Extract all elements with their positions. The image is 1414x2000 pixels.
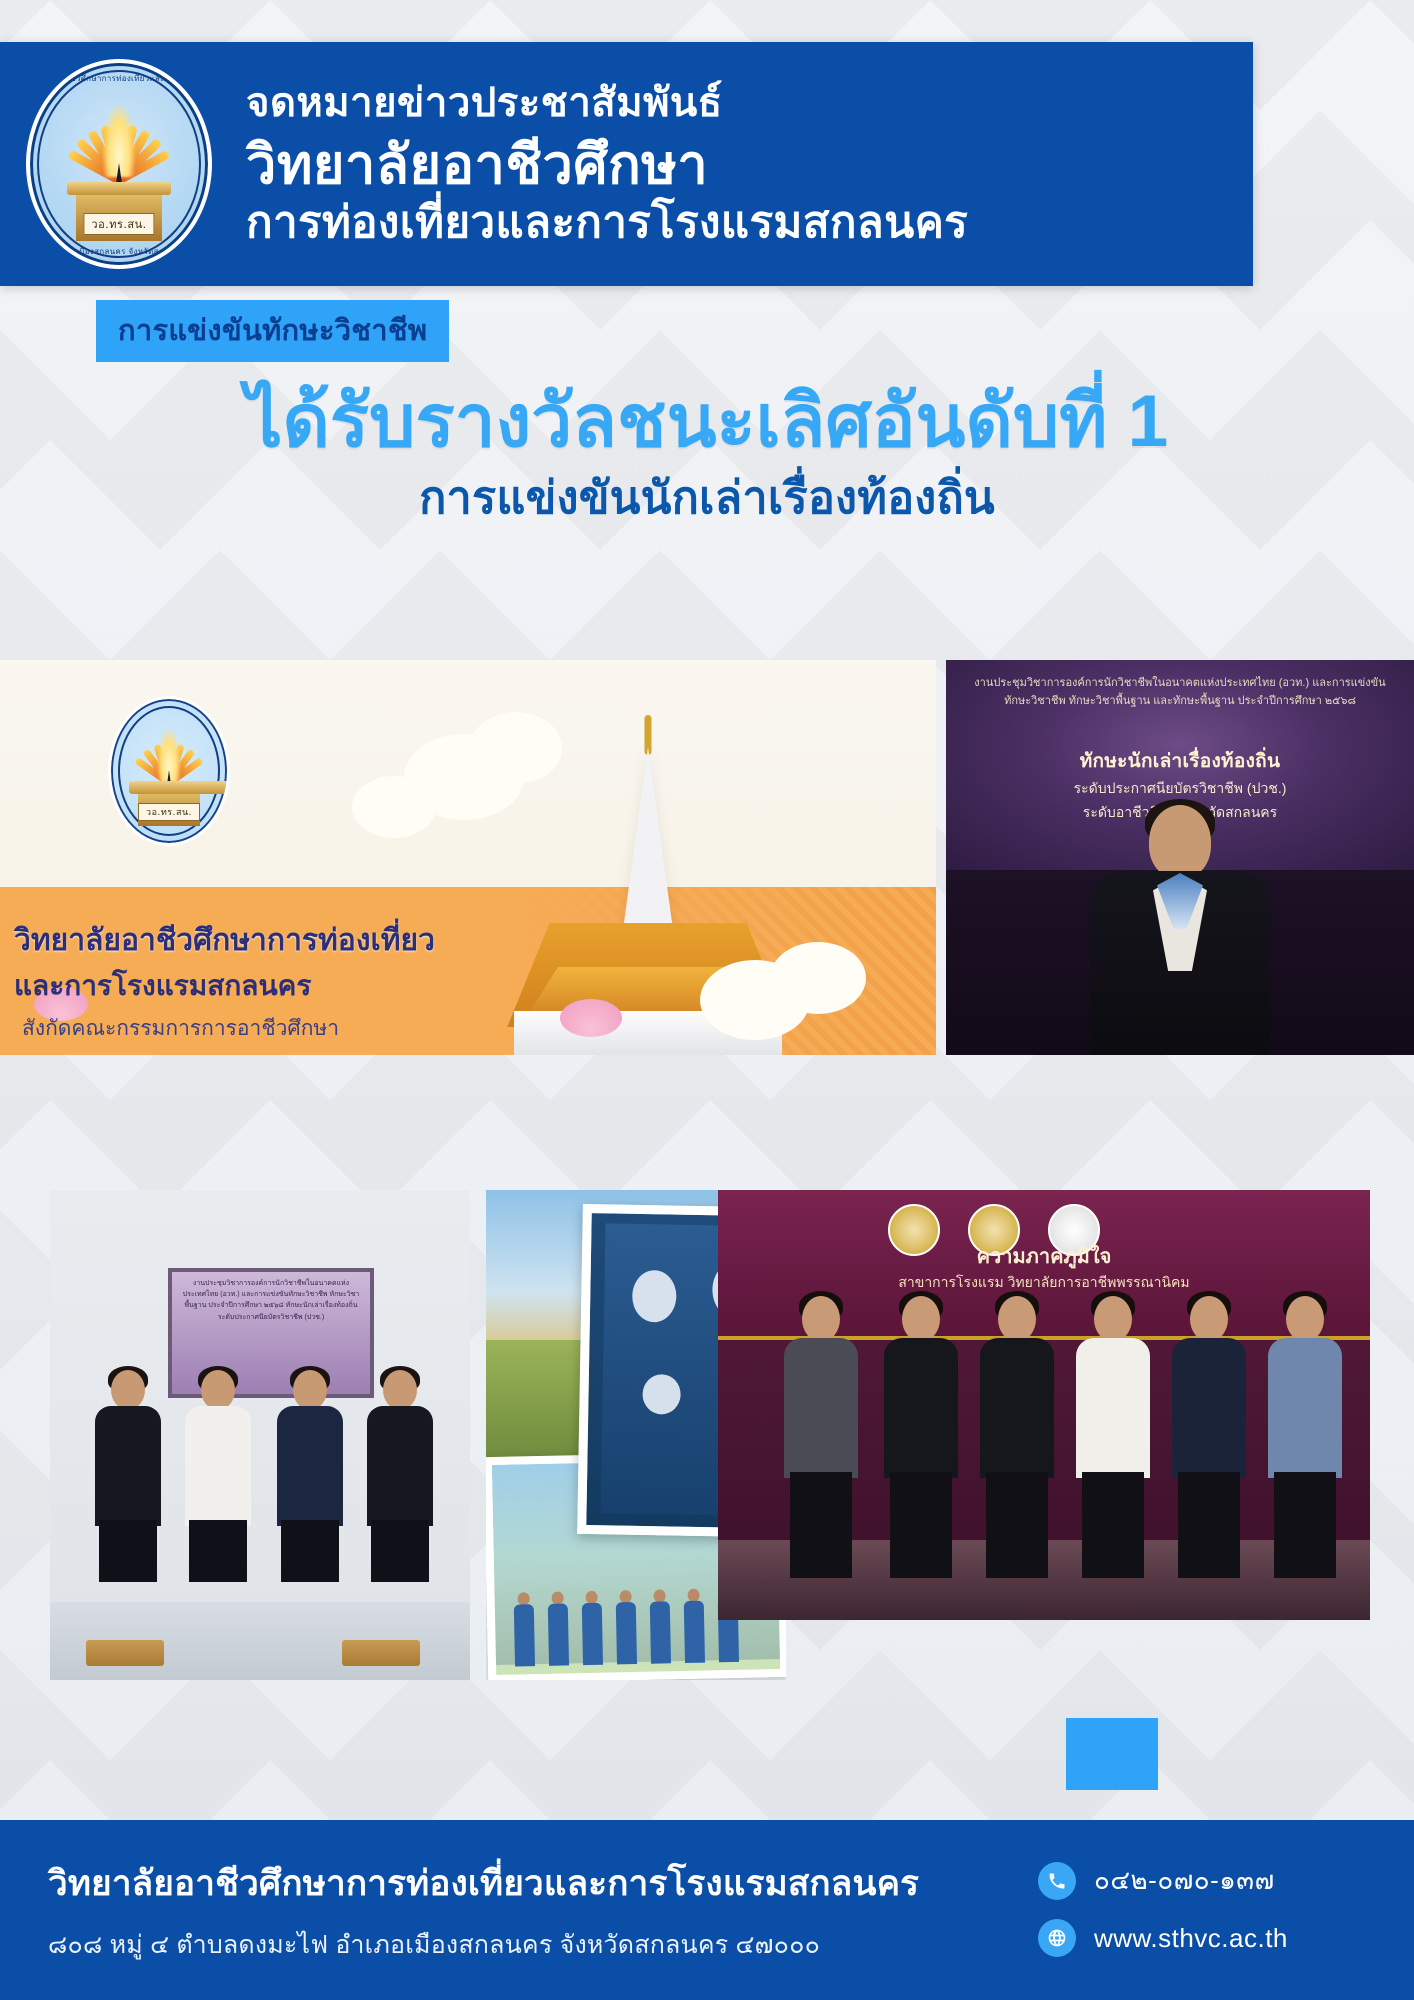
student-figure <box>90 1370 166 1602</box>
figure-head <box>902 1296 940 1342</box>
phone-icon <box>1038 1862 1076 1900</box>
tie-dye-pattern <box>642 1374 681 1415</box>
ceremony-banner-title: ความภาคภูมิใจ <box>718 1240 1370 1272</box>
figure-head <box>998 1296 1036 1342</box>
figure-body <box>684 1601 705 1663</box>
ceremony-person <box>1262 1296 1348 1586</box>
ceremony-person <box>878 1296 964 1586</box>
emblem-circle: วิทยาลัยอาชีวศึกษาการท่องเที่ยวและการโรง… <box>26 59 212 269</box>
ceremony-person <box>1070 1296 1156 1586</box>
award-plaque <box>342 1640 420 1666</box>
figure-body <box>650 1601 671 1663</box>
lotus-flower <box>560 999 622 1037</box>
screen-header-text: งานประชุมวิชาการองค์การนักวิชาชีพในอนาคต… <box>946 674 1414 710</box>
figure-skirt <box>189 1520 247 1582</box>
person-figure <box>580 1591 604 1667</box>
emblem-arc-top-text: วิทยาลัยอาชีวศึกษาการท่องเที่ยวและการโรง… <box>30 72 208 85</box>
figure-body <box>884 1338 958 1478</box>
banner-line1: วิทยาลัยอาชีวศึกษาการท่องเที่ยว <box>14 923 435 959</box>
screen-title-text: ทักษะนักเล่าเรื่องท้องถิ่น <box>946 746 1414 776</box>
globe-icon <box>1038 1919 1076 1957</box>
person-figure <box>682 1589 706 1665</box>
banner-emblem-logo: วอ.ทร.สน. <box>108 696 230 846</box>
speaker-head <box>1149 805 1211 879</box>
figure-head <box>802 1296 840 1342</box>
footer-college-name: วิทยาลัยอาชีวศึกษาการท่องเที่ยวและการโรง… <box>48 1856 919 1911</box>
temple-spire <box>622 747 674 937</box>
footer-website-url: www.sthvc.ac.th <box>1094 1923 1288 1954</box>
emblem-plate-text: วอ.ทร.สน. <box>83 213 154 235</box>
cloud-shape <box>770 942 866 1014</box>
figure-body <box>185 1406 251 1526</box>
emblem-arc-bottom-text: อำเภอเมืองสกลนคร จังหวัดสกลนคร <box>30 245 208 258</box>
person-figure <box>648 1589 672 1665</box>
footer-bar: วิทยาลัยอาชีวศึกษาการท่องเที่ยวและการโรง… <box>0 1820 1414 2000</box>
cloud-shape <box>352 776 436 838</box>
footer-phone-number: ๐๔๒-๐๗๐-๑๓๗ <box>1094 1860 1275 1901</box>
figure-body <box>277 1406 343 1526</box>
figure-body <box>367 1406 433 1526</box>
figure-body <box>1268 1338 1342 1478</box>
figure-body <box>548 1603 569 1665</box>
student-figure <box>272 1370 348 1602</box>
figure-skirt <box>371 1520 429 1582</box>
screen-line2-text: ระดับประกาศนียบัตรวิชาชีพ (ปวช.) <box>946 778 1414 800</box>
footer-address: ๘๐๘ หมู่ ๔ ตำบลดงมะไฟ อำเภอเมืองสกลนคร จ… <box>48 1925 919 1965</box>
figure-legs <box>890 1472 952 1578</box>
figure-head <box>293 1370 327 1410</box>
award-headline: ได้รับรางวัลชนะเลิศอันดับที่ 1 <box>0 382 1414 462</box>
figure-body <box>1172 1338 1246 1478</box>
award-plaque <box>86 1640 164 1666</box>
student-figure <box>362 1370 438 1602</box>
figure-skirt <box>99 1520 157 1582</box>
figure-legs <box>1274 1472 1336 1578</box>
header-kicker: จดหมายข่าวประชาสัมพันธ์ <box>246 78 968 128</box>
college-banner-photo: วอ.ทร.สน. วิทยาลัยอาชีวศึกษาการท่องเที่ย… <box>0 660 936 1055</box>
figure-body <box>1076 1338 1150 1478</box>
figure-head <box>111 1370 145 1410</box>
figure-head <box>383 1370 417 1410</box>
accent-square-right <box>1066 1718 1158 1790</box>
person-figure <box>614 1590 638 1666</box>
banner-emblem-circle: วอ.ทร.สน. <box>108 696 230 846</box>
figure-body <box>980 1338 1054 1478</box>
announcement-block: การแข่งขันทักษะวิชาชีพ ได้รับรางวัลชนะเล… <box>0 300 1414 524</box>
classroom-group-photo: งานประชุมวิชาการองค์การนักวิชาชีพในอนาคต… <box>50 1190 470 1680</box>
poster-page: วิทยาลัยอาชีวศึกษาการท่องเที่ยวและการโรง… <box>0 0 1414 2000</box>
figure-body <box>616 1602 637 1664</box>
photo-row-top: วอ.ทร.สน. วิทยาลัยอาชีวศึกษาการท่องเที่ย… <box>0 660 1414 1055</box>
figure-legs <box>986 1472 1048 1578</box>
stage-presentation-photo: งานประชุมวิชาการองค์การนักวิชาชีพในอนาคต… <box>946 660 1414 1055</box>
figure-head <box>1286 1296 1324 1342</box>
footer-phone-row[interactable]: ๐๔๒-๐๗๐-๑๓๗ <box>1038 1860 1368 1901</box>
cloud-shape <box>470 712 562 784</box>
header-text-block: จดหมายข่าวประชาสัมพันธ์ วิทยาลัยอาชีวศึก… <box>246 78 968 251</box>
ceremony-person <box>974 1296 1060 1586</box>
header-bar: วิทยาลัยอาชีวศึกษาการท่องเที่ยวและการโรง… <box>0 42 1253 286</box>
figure-head <box>1094 1296 1132 1342</box>
figure-body <box>784 1338 858 1478</box>
footer-contact-block: ๐๔๒-๐๗๐-๑๓๗ www.sthvc.ac.th <box>1038 1860 1368 1975</box>
student-speaker-figure <box>1065 805 1295 1055</box>
figure-head <box>201 1370 235 1410</box>
figure-body <box>95 1406 161 1526</box>
person-figure <box>513 1592 537 1668</box>
student-figure <box>180 1370 256 1602</box>
figure-body <box>582 1603 603 1665</box>
award-subheadline: การแข่งขันนักเล่าเรื่องท้องถิ่น <box>0 472 1414 524</box>
footer-website-row[interactable]: www.sthvc.ac.th <box>1038 1919 1368 1957</box>
figure-body <box>514 1604 535 1666</box>
banner-line2: และการโรงแรมสกลนคร <box>14 969 311 1003</box>
figure-legs <box>1082 1472 1144 1578</box>
figure-legs <box>790 1472 852 1578</box>
college-emblem-logo: วิทยาลัยอาชีวศึกษาการท่องเที่ยวและการโรง… <box>26 59 212 269</box>
header-title-line2: การท่องเที่ยวและการโรงแรมสกลนคร <box>246 197 968 250</box>
competition-badge: การแข่งขันทักษะวิชาชีพ <box>96 300 449 362</box>
figure-legs <box>1178 1472 1240 1578</box>
ceremony-person <box>1166 1296 1252 1586</box>
banner-line3: สังกัดคณะกรรมการการอาชีวศึกษา <box>22 1016 339 1041</box>
person-figure <box>547 1591 571 1667</box>
photo-grid-bottom: งานประชุมวิชาการองค์การนักวิชาชีพในอนาคต… <box>50 1190 1370 1680</box>
award-ceremony-photo: ความภาคภูมิใจ สาขาการโรงแรม วิทยาลัยการอ… <box>718 1190 1370 1620</box>
figure-head <box>1190 1296 1228 1342</box>
figure-skirt <box>281 1520 339 1582</box>
tie-dye-pattern <box>632 1270 677 1323</box>
banner-emblem-plate: วอ.ทร.สน. <box>138 803 200 821</box>
header-title-line1: วิทยาลัยอาชีวศึกษา <box>246 134 968 198</box>
footer-address-block: วิทยาลัยอาชีวศึกษาการท่องเที่ยวและการโรง… <box>48 1856 919 1965</box>
ceremony-person <box>778 1296 864 1586</box>
